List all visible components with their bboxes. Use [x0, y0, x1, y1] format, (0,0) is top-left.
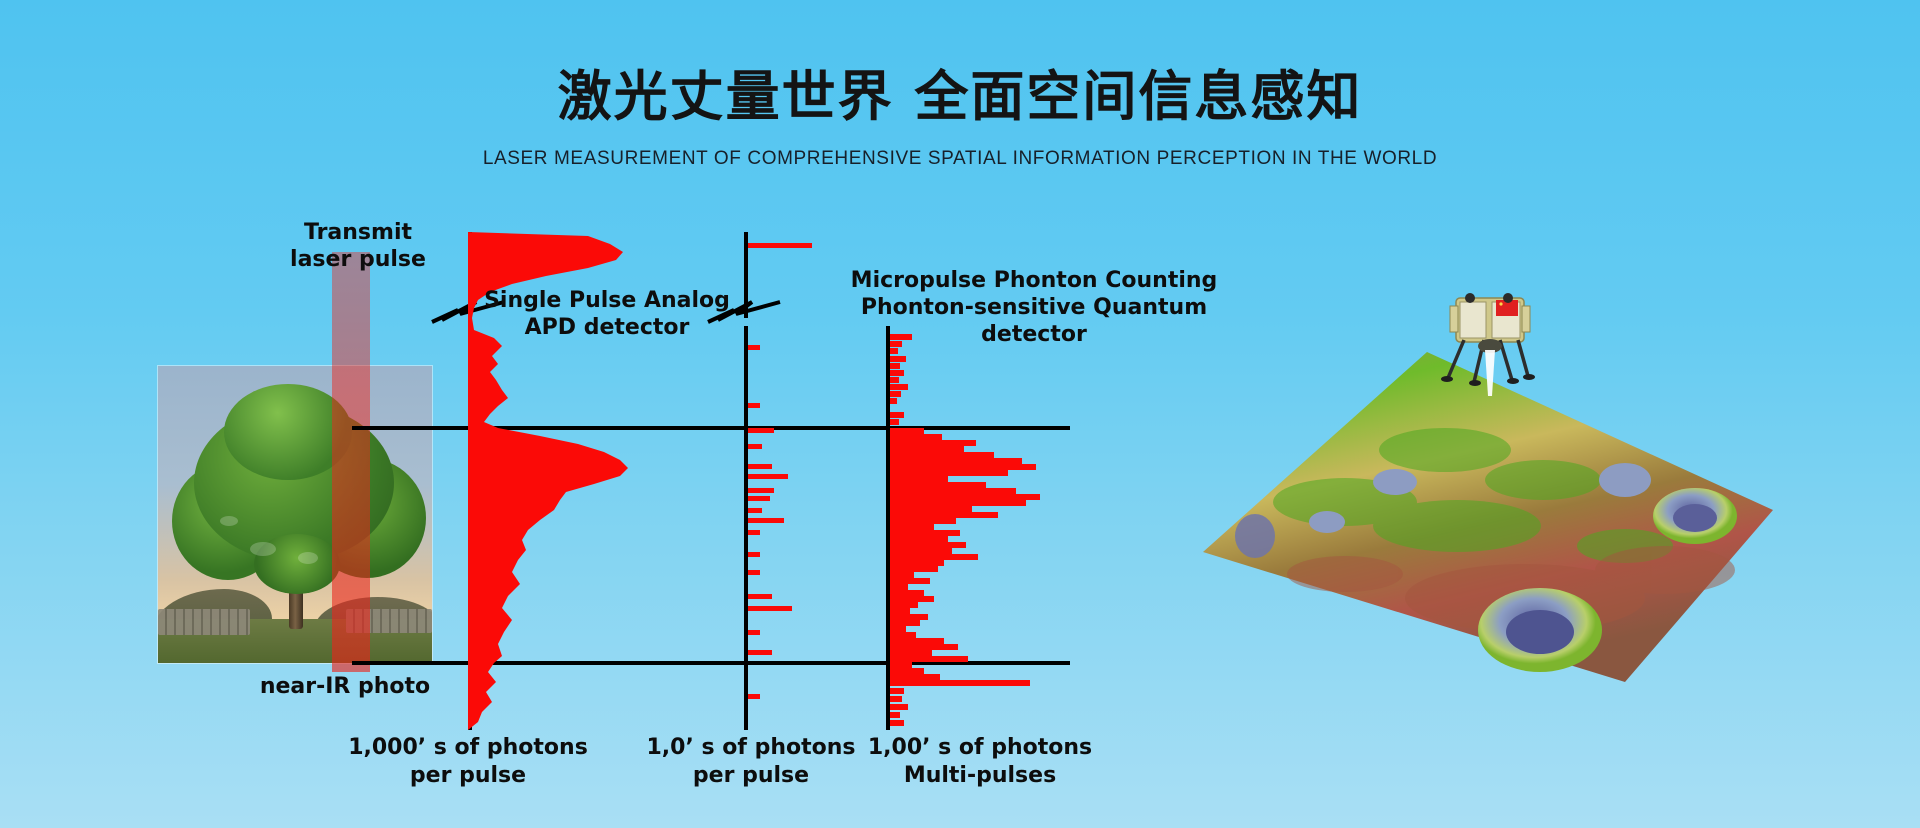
- photon-return-bar: [748, 570, 760, 575]
- photon-return-bar: [890, 384, 908, 390]
- transmit-laser-pulse-label: Transmit laser pulse: [268, 220, 448, 274]
- near-ir-photo-label: near-IR photo: [230, 674, 460, 701]
- panel3-photon-histogram: [890, 0, 1110, 828]
- photon-return-bar: [748, 243, 812, 248]
- photon-return-bar: [748, 530, 760, 535]
- photon-return-bar: [748, 464, 772, 469]
- photon-return-bar: [748, 508, 762, 513]
- panel3-caption: 1,00’ s of photons Multi-pulses: [866, 734, 1094, 790]
- photon-return-bar: [748, 444, 762, 449]
- photon-return-bar: [748, 403, 760, 408]
- photon-return-bar: [890, 398, 897, 404]
- photon-return-bar: [748, 428, 774, 433]
- photon-return-bar: [890, 370, 904, 376]
- near-ir-photo-image: [158, 366, 432, 663]
- micropulse-detector-label: Micropulse Phonton Counting Phonton-sens…: [818, 268, 1250, 348]
- photon-return-bar: [748, 518, 784, 523]
- photon-return-bar: [890, 696, 902, 702]
- photo-leaf-highlight: [220, 516, 238, 526]
- photon-return-bar: [890, 412, 904, 418]
- photo-leaf-highlight: [250, 542, 276, 556]
- photon-return-bar: [748, 630, 760, 635]
- laser-beam-icon: [332, 252, 370, 672]
- photon-return-bar: [890, 419, 899, 425]
- photon-return-bar: [748, 594, 772, 599]
- photo-stone-wall-left: [158, 609, 250, 635]
- photon-return-bar: [890, 680, 1030, 686]
- panel2-caption: 1,0’ s of photons per pulse: [646, 734, 856, 790]
- photon-return-bar: [748, 694, 760, 699]
- photon-return-bar: [890, 391, 901, 397]
- photon-return-bar: [748, 496, 770, 501]
- photon-return-bar: [748, 474, 788, 479]
- photon-return-bar: [890, 712, 900, 718]
- photon-return-bar: [748, 650, 772, 655]
- photon-return-bar: [890, 363, 900, 369]
- panel1-caption: 1,000’ s of photons per pulse: [348, 734, 588, 790]
- photon-return-bar: [890, 377, 899, 383]
- photon-return-bar: [748, 345, 760, 350]
- photon-return-bar: [890, 356, 906, 362]
- photon-return-bar: [748, 606, 792, 611]
- photon-return-bar: [890, 704, 908, 710]
- photon-return-bar: [890, 720, 904, 726]
- lunar-lander-icon: [1430, 288, 1550, 398]
- photon-return-bar: [890, 348, 898, 354]
- photo-leaf-highlight: [298, 552, 318, 564]
- photon-return-bar: [748, 552, 760, 557]
- photon-return-bar: [890, 688, 904, 694]
- banner-canvas: 激光丈量世界 全面空间信息感知 LASER MEASUREMENT OF COM…: [0, 0, 1920, 828]
- photon-return-bar: [748, 488, 774, 493]
